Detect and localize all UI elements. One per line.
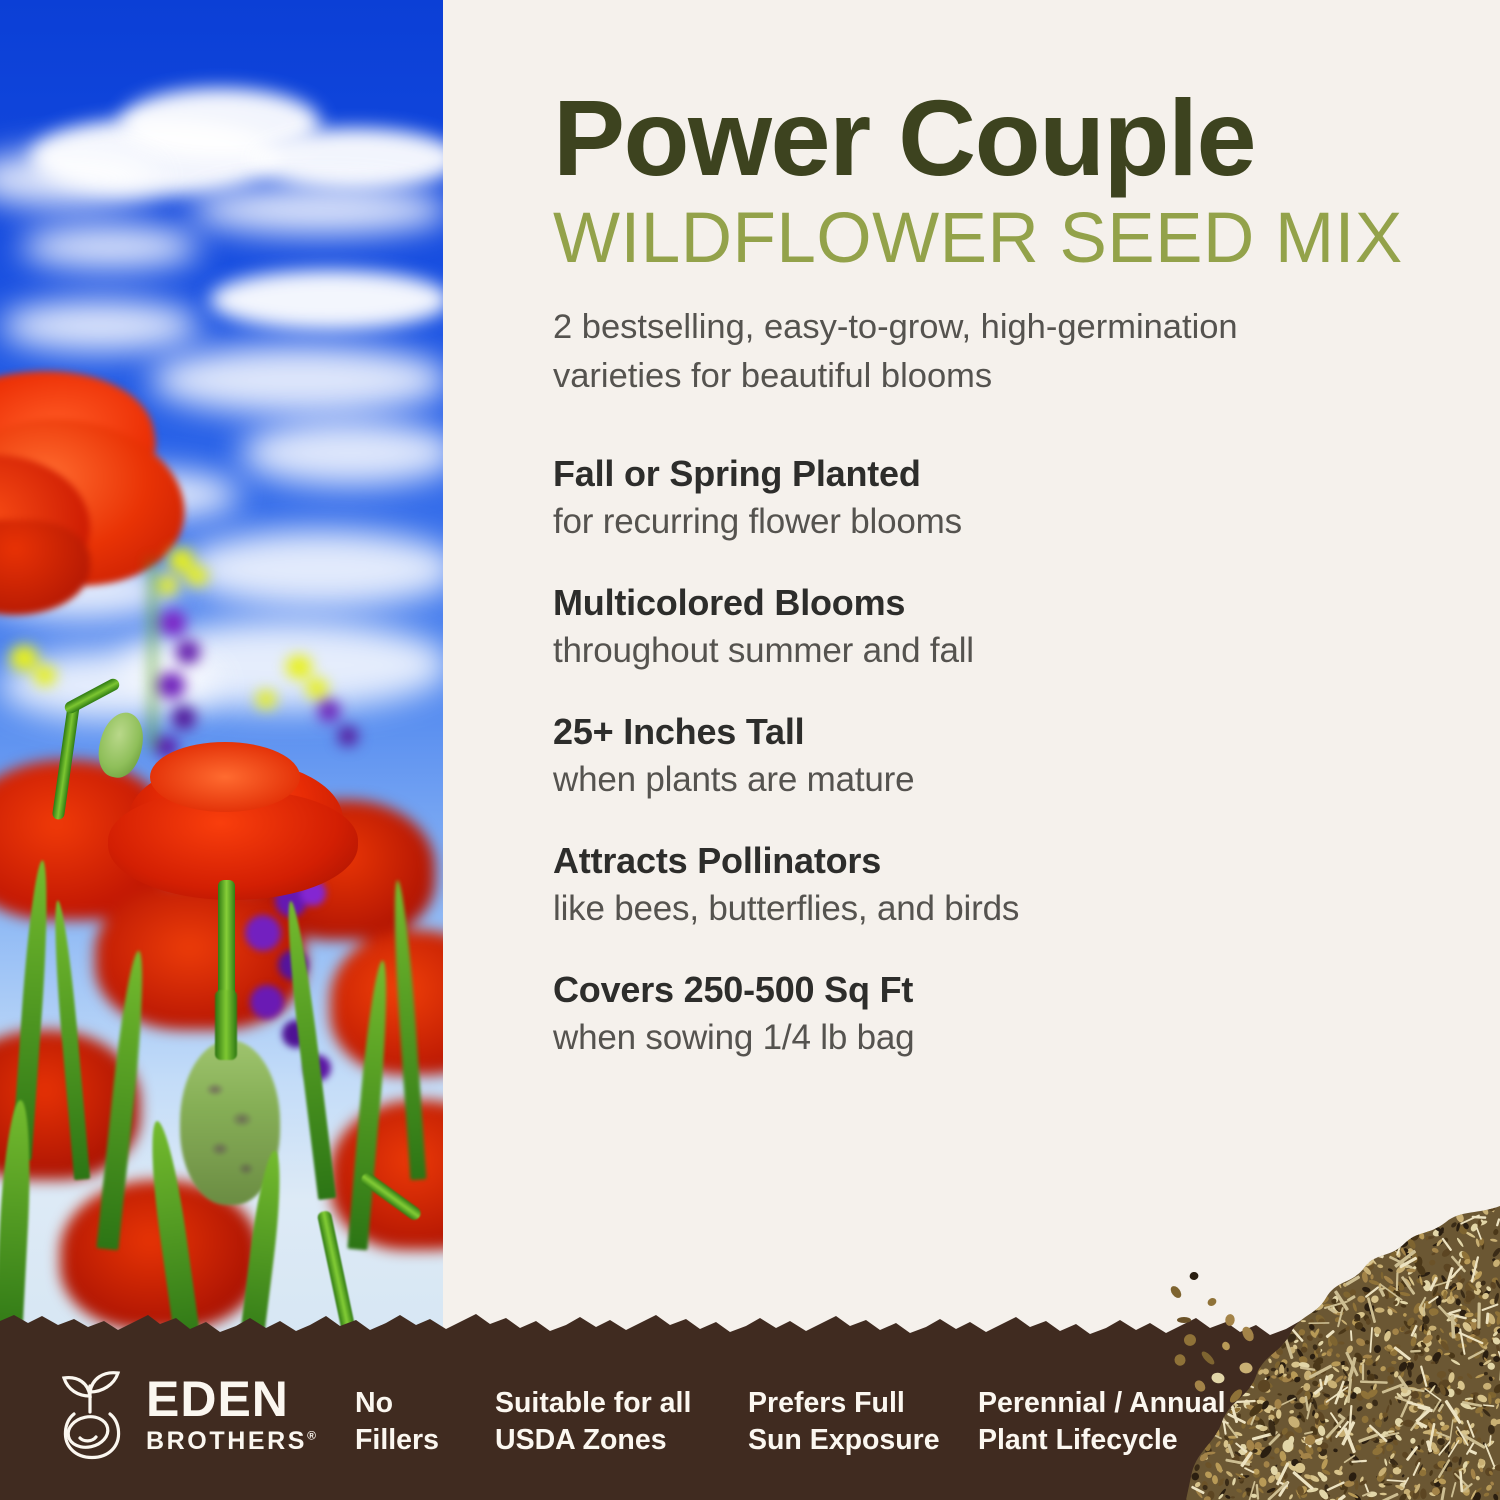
footer-line: Prefers Full	[748, 1385, 940, 1423]
page-title: Power Couple	[553, 0, 1440, 192]
feature-detail: like bees, butterflies, and birds	[553, 889, 1440, 929]
eden-brothers-logo: EDEN BROTHERS®	[48, 1366, 319, 1462]
feature-heading: Multicolored Blooms	[553, 582, 1440, 624]
footer-line: USDA Zones	[495, 1422, 691, 1460]
footer-line: Suitable for all	[495, 1385, 691, 1423]
feature-item: Multicolored Blooms throughout summer an…	[553, 582, 1440, 671]
feature-heading: Covers 250-500 Sq Ft	[553, 969, 1440, 1011]
feature-item: Attracts Pollinators like bees, butterfl…	[553, 840, 1440, 929]
feature-detail: throughout summer and fall	[553, 631, 1440, 671]
footer-column-fillers: No Fillers	[355, 1385, 439, 1460]
footer-line: Fillers	[355, 1422, 439, 1460]
feature-detail: for recurring flower blooms	[553, 502, 1440, 542]
footer-column-zones: Suitable for all USDA Zones	[495, 1385, 691, 1460]
logo-secondary-text: BROTHERS	[146, 1427, 307, 1455]
page-subtitle: WILDFLOWER SEED MIX	[553, 202, 1440, 277]
seed-pile-mound	[1160, 1200, 1500, 1500]
wildflower-meadow-photo	[0, 0, 443, 1500]
footer-line: No	[355, 1385, 439, 1423]
logo-primary-text: EDEN	[146, 1374, 319, 1424]
feature-heading: Attracts Pollinators	[553, 840, 1440, 882]
sprout-seed-icon	[48, 1366, 132, 1462]
footer-column-sun: Prefers Full Sun Exposure	[748, 1385, 940, 1460]
seed-pile	[1160, 1200, 1500, 1500]
page-lede: 2 bestselling, easy-to-grow, high-germin…	[553, 303, 1313, 401]
registered-mark: ®	[307, 1429, 318, 1443]
feature-heading: Fall or Spring Planted	[553, 453, 1440, 495]
feature-heading: 25+ Inches Tall	[553, 711, 1440, 753]
feature-detail: when plants are mature	[553, 760, 1440, 800]
feature-item: 25+ Inches Tall when plants are mature	[553, 711, 1440, 800]
feature-item: Covers 250-500 Sq Ft when sowing 1/4 lb …	[553, 969, 1440, 1058]
product-infographic: Power Couple WILDFLOWER SEED MIX 2 bests…	[0, 0, 1500, 1500]
footer-line: Sun Exposure	[748, 1422, 940, 1460]
feature-item: Fall or Spring Planted for recurring flo…	[553, 453, 1440, 542]
feature-list: Fall or Spring Planted for recurring flo…	[553, 453, 1440, 1058]
feature-detail: when sowing 1/4 lb bag	[553, 1018, 1440, 1058]
